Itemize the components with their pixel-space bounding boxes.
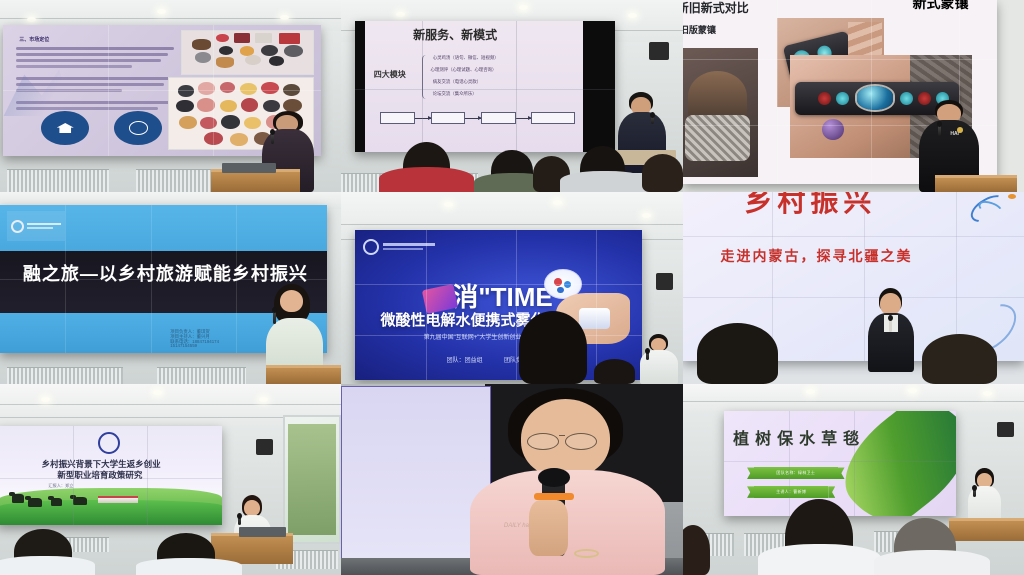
cell-tree-planting-water-mat-presentation[interactable]: 植树保水草毯 团队名称：绿林卫士 主讲人：曹新博 xyxy=(683,384,1024,575)
cell-rural-tourism-revitalization-presentation[interactable]: 融之旅—以乡村旅游赋能乡村振兴 项目负责人：董琪贺 项目主持人：董兴月 联系电话… xyxy=(0,192,341,384)
search-icon xyxy=(114,111,162,145)
slide-disinfection-device: 消"TIME 微酸性电解水便携式雾化消毒器 第九届中国"互联网+"大学生创新创业… xyxy=(355,230,642,380)
cow-graphic xyxy=(28,498,42,508)
cow-graphic xyxy=(12,494,23,503)
slide-heading-sub: 旧版蒙镶 xyxy=(683,26,716,35)
hand xyxy=(529,500,567,556)
slide-water-mat: 植树保水草毯 团队名称：绿林卫士 主讲人：曹新博 xyxy=(724,411,956,516)
badge-collection-photo xyxy=(181,30,314,74)
flow-box-3 xyxy=(531,112,575,124)
blue-swirl-logo xyxy=(966,192,1021,226)
university-emblem xyxy=(7,211,66,241)
slide-heading-right: 新式蒙镶 xyxy=(912,0,968,11)
footer-left: 团队：团益组 xyxy=(447,358,483,364)
cell-culture-industry-presentation[interactable]: 三、市场定位 xyxy=(0,0,341,192)
silver-vessel-photo xyxy=(683,48,758,177)
audience-member xyxy=(642,154,683,192)
bullet-2: 病友交流（电话心灵款） xyxy=(433,80,481,85)
audience-member xyxy=(697,323,779,384)
audience-member xyxy=(519,311,587,384)
speaker-box xyxy=(649,42,670,59)
radiator xyxy=(136,169,211,192)
slide-title-line1: 乡村振兴背景下大学生返乡创业 xyxy=(42,460,161,469)
university-emblem xyxy=(98,432,120,454)
speaker xyxy=(867,288,915,372)
radiator xyxy=(7,367,123,384)
speaker xyxy=(639,334,680,384)
flow-box-0 xyxy=(380,112,415,124)
flow-box-2 xyxy=(481,112,516,124)
slide-title-main: 消"TIME xyxy=(452,284,552,311)
slide-new-service: 新服务、新模式 四大模块 心灵鸡汤（语句、微信、短视频） 心理测评（心理试题、心… xyxy=(365,21,583,152)
led-video-wall[interactable]: 消"TIME 微酸性电解水便携式雾化消毒器 第九届中国"互联网+"大学生创新创业… xyxy=(355,230,642,380)
slide-entrepreneurship-policy: 乡村振兴背景下大学生返乡创业 新型职业培育政策研究 汇报人：郑立 xyxy=(0,426,222,525)
farm-building-graphic xyxy=(98,496,139,503)
podium xyxy=(266,365,341,384)
pink-sweatshirt xyxy=(470,470,665,575)
slide-title: 乡村振兴 xyxy=(744,192,876,216)
bullet-0: 心灵鸡汤（语句、微信、短视频） xyxy=(433,56,499,61)
laptop xyxy=(239,527,287,537)
slide-title: 新服务、新模式 xyxy=(413,29,497,42)
cell-graduate-entrepreneurship-policy-presentation[interactable]: 乡村振兴背景下大学生返乡创业 新型职业培育政策研究 汇报人：郑立 xyxy=(0,384,341,575)
ribbon-team-name: 团队名称：绿林卫士 xyxy=(754,467,837,479)
ribbon-text: 主讲人：曹新博 xyxy=(776,489,806,495)
ribbon-text: 团队名称：绿林卫士 xyxy=(776,470,815,476)
microphone-accent xyxy=(534,493,574,500)
university-emblem xyxy=(363,236,455,257)
radiator xyxy=(157,367,246,384)
flow-box-1 xyxy=(431,112,466,124)
radiator xyxy=(7,169,109,192)
cow-graphic xyxy=(51,498,62,507)
slide-byline: 汇报人：郑立 xyxy=(48,484,73,488)
ribbon-speaker: 主讲人：曹新博 xyxy=(754,486,828,498)
microphone-head xyxy=(538,468,570,487)
podium xyxy=(935,175,1017,192)
slide-title: 植树保水草毯 xyxy=(733,432,865,449)
cell-mongolian-inlay-jewelry-presentation[interactable]: 新旧新式对比 旧版蒙镶 新式蒙镶 xyxy=(683,0,1024,192)
cell-new-service-new-model-presentation[interactable]: 新服务、新模式 四大模块 心灵鸡汤（语句、微信、短视频） 心理测评（心理试题、心… xyxy=(341,0,683,192)
laptop xyxy=(222,163,277,173)
audience-member xyxy=(379,167,475,192)
led-video-wall[interactable]: 新服务、新模式 四大模块 心灵鸡汤（语句、微信、短视频） 心理测评（心理试题、心… xyxy=(355,21,615,152)
slide-heading: 三、市场定位 xyxy=(19,38,49,43)
led-video-wall[interactable]: 乡村振兴背景下大学生返乡创业 新型职业培育政策研究 汇报人：郑立 xyxy=(0,426,222,525)
cell-presenter-closeup[interactable]: DAILY happen xyxy=(341,384,683,575)
speaker xyxy=(966,468,1004,525)
cell-portable-disinfection-device-presentation[interactable]: 消"TIME 微酸性电解水便携式雾化消毒器 第九届中国"互联网+"大学生创新创业… xyxy=(341,192,683,384)
video-grid: 三、市场定位 xyxy=(0,0,1024,575)
device-graphic xyxy=(579,308,611,329)
podium xyxy=(949,518,1024,541)
led-video-wall[interactable]: 植树保水草毯 团队名称：绿林卫士 主讲人：曹新博 xyxy=(724,411,956,516)
audience-member xyxy=(594,359,635,384)
speaker-box xyxy=(656,273,673,290)
bullet-3: 论坛交流（集众所乐） xyxy=(433,92,477,97)
presenter: DAILY happen xyxy=(457,388,669,575)
audience-member xyxy=(922,334,997,384)
speaker-box xyxy=(997,422,1014,437)
slide-heading-left: 新旧新式对比 xyxy=(683,2,749,15)
slide-label: 四大模块 xyxy=(374,71,406,79)
speaker-box xyxy=(256,439,273,454)
cell-inner-mongolia-tourism-presentation[interactable]: 乡村振兴 走进内蒙古，探寻北疆之美 xyxy=(683,192,1024,384)
window xyxy=(283,415,341,545)
bullet-1: 心理测评（心理试题、心理咨询） xyxy=(431,68,497,73)
home-icon xyxy=(41,111,89,145)
slide-subtitle: 走进内蒙古，探寻北疆之美 xyxy=(721,249,913,264)
cow-graphic xyxy=(73,497,87,506)
